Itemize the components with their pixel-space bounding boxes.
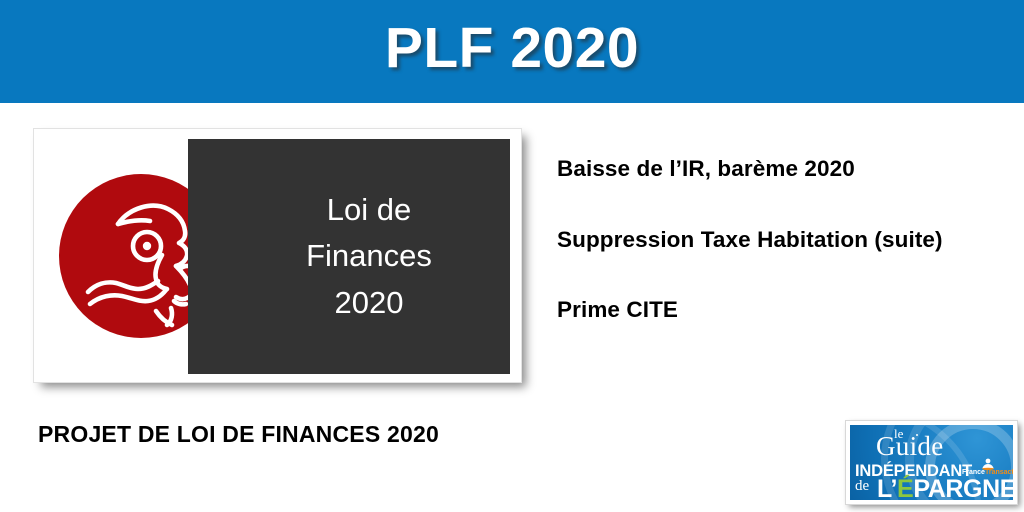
list-item: Suppression Taxe Habitation (suite) bbox=[557, 227, 1009, 254]
brand-de-label: de bbox=[855, 479, 869, 494]
list-item: Baisse de l’IR, barème 2020 bbox=[557, 156, 1009, 183]
brand-epargne-label: L’ÉPARGNE bbox=[877, 477, 1013, 500]
epargne-rest-text: PARGNE bbox=[913, 475, 1013, 500]
header-banner: PLF 2020 bbox=[0, 0, 1024, 103]
panel-line-3: 2020 bbox=[335, 287, 404, 320]
epargne-prefix-text: L’ bbox=[877, 475, 897, 500]
highlights-list: Baisse de l’IR, barème 2020 Suppression … bbox=[557, 156, 1009, 324]
illustration-card: Loi de Finances 2020 bbox=[33, 128, 522, 383]
epargne-accent-text: É bbox=[897, 475, 913, 500]
page-title: PLF 2020 bbox=[0, 0, 1024, 103]
brand-guide-label: Guide bbox=[876, 433, 943, 460]
panel-text-block: Loi de Finances 2020 bbox=[188, 139, 510, 374]
panel-line-1: Loi de bbox=[327, 194, 411, 227]
caption-text: PROJET DE LOI DE FINANCES 2020 bbox=[38, 421, 439, 448]
dark-title-panel: Loi de Finances 2020 bbox=[188, 139, 510, 374]
person-savings-icon bbox=[981, 457, 995, 469]
panel-line-2: Finances bbox=[306, 240, 432, 273]
list-item: Prime CITE bbox=[557, 297, 1009, 324]
brand-badge-inner: le Guide INDÉPENDANT FranceTransactions.… bbox=[850, 425, 1013, 500]
brand-badge[interactable]: le Guide INDÉPENDANT FranceTransactions.… bbox=[845, 420, 1018, 505]
